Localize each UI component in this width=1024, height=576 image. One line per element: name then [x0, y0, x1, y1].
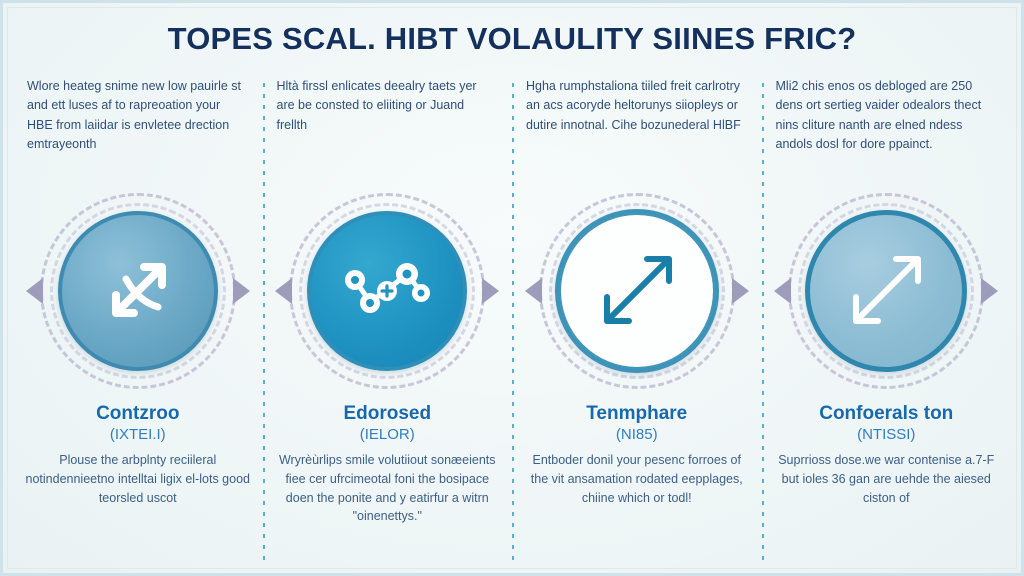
- column-4-heading: Confoerals ton: [819, 403, 953, 425]
- crossed-arrows-icon: [92, 245, 184, 337]
- column-3-heading: Tenmphare: [586, 403, 687, 425]
- left-arrow-marker-icon: [275, 278, 292, 304]
- column-4-caption: Suprrioss dose.we war contenise a.7-F bu…: [770, 451, 1004, 507]
- icon-disc: [307, 211, 467, 371]
- icon-disc: [805, 210, 967, 372]
- left-arrow-marker-icon: [525, 278, 542, 304]
- column-4-icon-badge: [786, 191, 986, 391]
- column-4: Mli2 chis enos os debloged are 250 dens …: [762, 77, 1012, 567]
- column-1-intro-text: Wlore heateg snime new low pauirle st an…: [21, 77, 255, 181]
- column-1-heading: Contzroo: [96, 403, 179, 425]
- left-arrow-marker-icon: [774, 278, 791, 304]
- column-2-subheading: (IELOR): [360, 426, 415, 443]
- column-2-intro-text: Hltà firssl enlicates deealry taets yer …: [271, 77, 505, 181]
- column-1-caption: Plouse the arbplnty reciileral notindenn…: [21, 451, 255, 507]
- column-1-subheading: (IXTEI.I): [110, 426, 166, 443]
- column-2-caption: Wryrèùrlips smile volutiiout sonæeients …: [271, 451, 505, 526]
- double-arrow-dial-icon: [585, 239, 689, 343]
- column-3: Hgha rumphstaliona tiiled freit carlrotr…: [512, 77, 762, 567]
- column-2-icon-badge: [287, 191, 487, 391]
- page-title: TOPES SCAL. HIBT VOLAULITY SIINES FRIC?: [3, 21, 1021, 57]
- column-2-heading: Edorosed: [343, 403, 431, 425]
- right-arrow-marker-icon: [233, 278, 250, 304]
- columns-container: Wlore heateg snime new low pauirle st an…: [13, 77, 1011, 567]
- left-arrow-marker-icon: [26, 278, 43, 304]
- double-arrow-growth-icon: [834, 239, 938, 343]
- icon-disc: [58, 211, 218, 371]
- right-arrow-marker-icon: [981, 278, 998, 304]
- icon-disc: [555, 209, 719, 373]
- column-3-caption: Entboder donil your pesenc forroes of th…: [520, 451, 754, 507]
- column-1-icon-badge: [38, 191, 238, 391]
- column-4-subheading: (NTISSI): [857, 426, 915, 443]
- infographic-poster: TOPES SCAL. HIBT VOLAULITY SIINES FRIC? …: [0, 0, 1024, 576]
- right-arrow-marker-icon: [482, 278, 499, 304]
- right-arrow-marker-icon: [732, 278, 749, 304]
- node-network-chart-icon: [337, 252, 437, 330]
- column-3-intro-text: Hgha rumphstaliona tiiled freit carlrotr…: [520, 77, 754, 181]
- column-2: Hltà firssl enlicates deealry taets yer …: [263, 77, 513, 567]
- column-3-icon-badge: [537, 191, 737, 391]
- column-4-intro-text: Mli2 chis enos os debloged are 250 dens …: [770, 77, 1004, 181]
- column-3-subheading: (NI85): [616, 426, 658, 443]
- column-1: Wlore heateg snime new low pauirle st an…: [13, 77, 263, 567]
